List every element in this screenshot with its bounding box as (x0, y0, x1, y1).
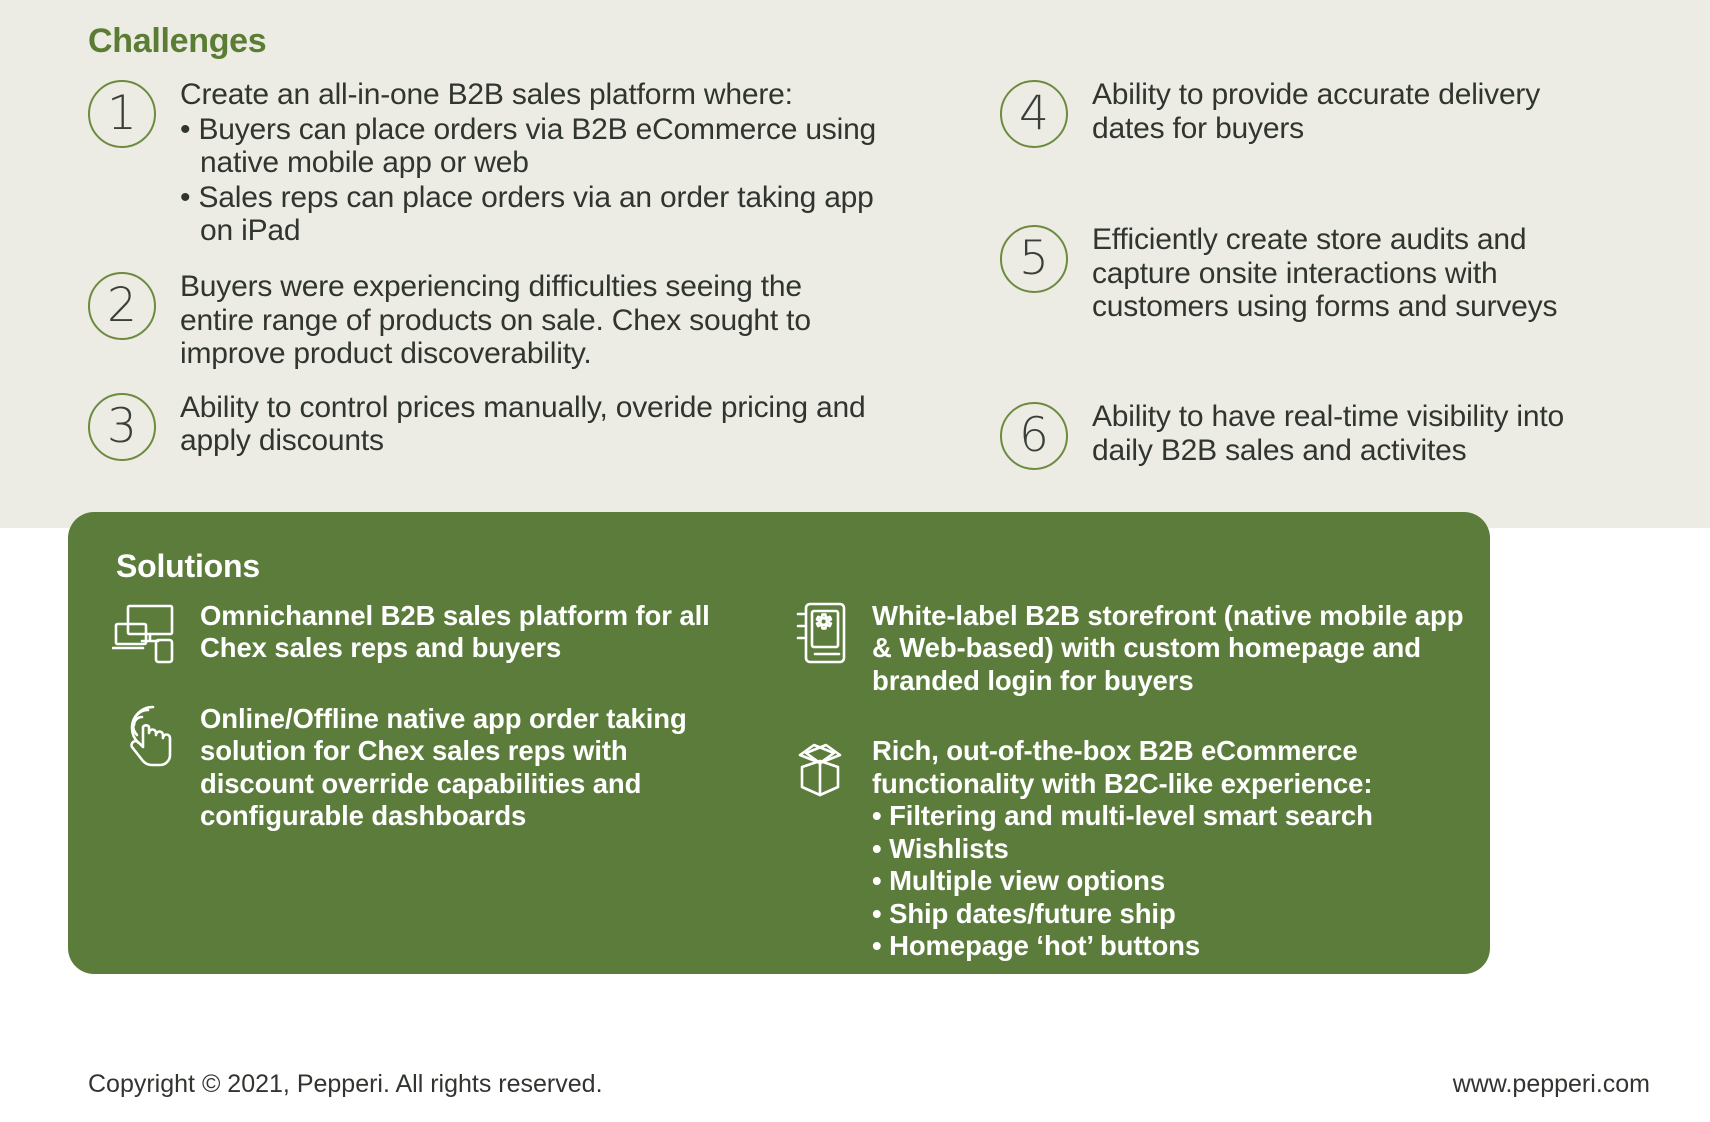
challenge-lead-5: Efficiently create store audits and capt… (1092, 223, 1620, 324)
challenge-subitem-1-2: Sales reps can place orders via an order… (180, 181, 878, 248)
solution-text-1: Omnichannel B2B sales platform for all C… (200, 600, 748, 665)
case-study-slide: Challenges 1 Create an all-in-one B2B sa… (0, 0, 1710, 1122)
challenge-item-2: 2 Buyers were experiencing difficulties … (88, 270, 878, 371)
challenges-section: Challenges 1 Create an all-in-one B2B sa… (0, 0, 1710, 528)
solution-lead-4: Rich, out-of-the-box B2B eCommerce funct… (872, 735, 1470, 800)
challenge-number-1: 1 (88, 80, 156, 148)
challenge-number-2: 2 (88, 272, 156, 340)
challenge-lead-3: Ability to control prices manually, over… (180, 391, 878, 458)
challenge-number-5: 5 (1000, 225, 1068, 293)
solutions-title: Solutions (116, 548, 260, 585)
phone-gear-icon (784, 602, 856, 664)
challenge-body-2: Buyers were experiencing difficulties se… (180, 270, 878, 371)
challenge-subitem-1-1: Buyers can place orders via B2B eCommerc… (180, 113, 878, 180)
solution-text-3: White-label B2B storefront (native mobil… (872, 600, 1470, 697)
challenge-lead-6: Ability to have real-time visibility int… (1092, 400, 1620, 467)
challenge-body-3: Ability to control prices manually, over… (180, 391, 878, 458)
challenge-body-6: Ability to have real-time visibility int… (1092, 400, 1620, 467)
challenge-lead-4: Ability to provide accurate delivery dat… (1092, 78, 1620, 145)
solutions-section: Solutions Omnichannel B2B sales platform… (68, 512, 1490, 974)
tap-hand-icon (112, 705, 184, 767)
challenge-body-5: Efficiently create store audits and capt… (1092, 223, 1620, 324)
solution-item-3: White-label B2B storefront (native mobil… (780, 600, 1470, 697)
challenge-body-1: Create an all-in-one B2B sales platform … (180, 78, 878, 248)
devices-icon (112, 602, 184, 664)
challenge-item-4: 4 Ability to provide accurate delivery d… (1000, 78, 1620, 145)
open-box-icon (784, 737, 856, 799)
footer: Copyright © 2021, Pepperi. All rights re… (0, 1062, 1710, 1122)
solution-item-4: Rich, out-of-the-box B2B eCommerce funct… (780, 735, 1470, 962)
challenge-number-3: 3 (88, 393, 156, 461)
solution-item-2: Online/Offline native app order taking s… (108, 703, 748, 833)
solutions-column-left: Omnichannel B2B sales platform for all C… (108, 600, 748, 871)
challenge-item-6: 6 Ability to have real-time visibility i… (1000, 400, 1620, 467)
solutions-column-right: White-label B2B storefront (native mobil… (780, 600, 1470, 1000)
challenge-body-4: Ability to provide accurate delivery dat… (1092, 78, 1620, 145)
website-url[interactable]: www.pepperi.com (1453, 1070, 1650, 1099)
challenge-number-6: 6 (1000, 402, 1068, 470)
solution-bullet-4-4: Ship dates/future ship (872, 898, 1470, 930)
solution-text-2: Online/Offline native app order taking s… (200, 703, 748, 833)
challenge-item-3: 3 Ability to control prices manually, ov… (88, 391, 878, 458)
challenge-item-1: 1 Create an all-in-one B2B sales platfor… (88, 78, 878, 248)
solution-bullet-4-1: Filtering and multi-level smart search (872, 800, 1470, 832)
solution-bullet-4-5: Homepage ‘hot’ buttons (872, 930, 1470, 962)
solution-bullet-4-2: Wishlists (872, 833, 1470, 865)
challenges-column-right: 4 Ability to provide accurate delivery d… (1000, 78, 1620, 481)
solution-bullet-4-3: Multiple view options (872, 865, 1470, 897)
challenge-item-5: 5 Efficiently create store audits and ca… (1000, 223, 1620, 324)
solution-item-1: Omnichannel B2B sales platform for all C… (108, 600, 748, 665)
challenge-lead-2: Buyers were experiencing difficulties se… (180, 270, 878, 371)
challenges-title: Challenges (88, 22, 266, 61)
solution-text-4: Rich, out-of-the-box B2B eCommerce funct… (872, 735, 1470, 962)
challenges-column-left: 1 Create an all-in-one B2B sales platfor… (88, 78, 878, 472)
challenge-lead-1: Create an all-in-one B2B sales platform … (180, 78, 878, 112)
challenge-number-4: 4 (1000, 80, 1068, 148)
copyright-text: Copyright © 2021, Pepperi. All rights re… (88, 1070, 603, 1099)
